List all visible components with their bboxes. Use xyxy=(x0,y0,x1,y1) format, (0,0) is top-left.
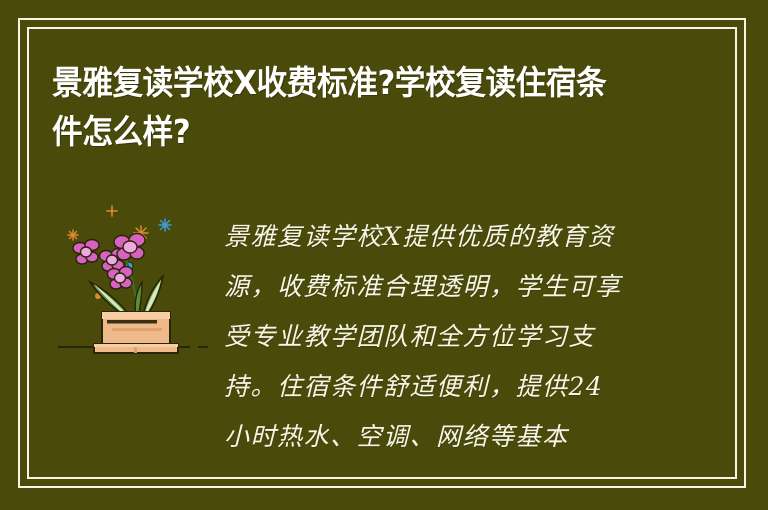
body-paragraph: 景雅复读学校X提供优质的教育资源，收费标准合理透明，学生可享受专业教学团队和全方… xyxy=(224,212,624,462)
sparkle-orange-top xyxy=(107,206,117,216)
potted-orchid-illustration xyxy=(50,190,212,372)
poster-canvas: 景雅复读学校X收费标准?学校复读住宿条件怎么样? 景雅复读学校X提供优质的教育资… xyxy=(0,0,768,510)
orchid-flowers xyxy=(73,234,145,290)
sparkle-orange-left xyxy=(68,230,78,240)
flower-pot xyxy=(94,312,178,353)
sparkle-blue-top-right xyxy=(159,219,171,231)
page-title: 景雅复读学校X收费标准?学校复读住宿条件怎么样? xyxy=(52,58,629,156)
